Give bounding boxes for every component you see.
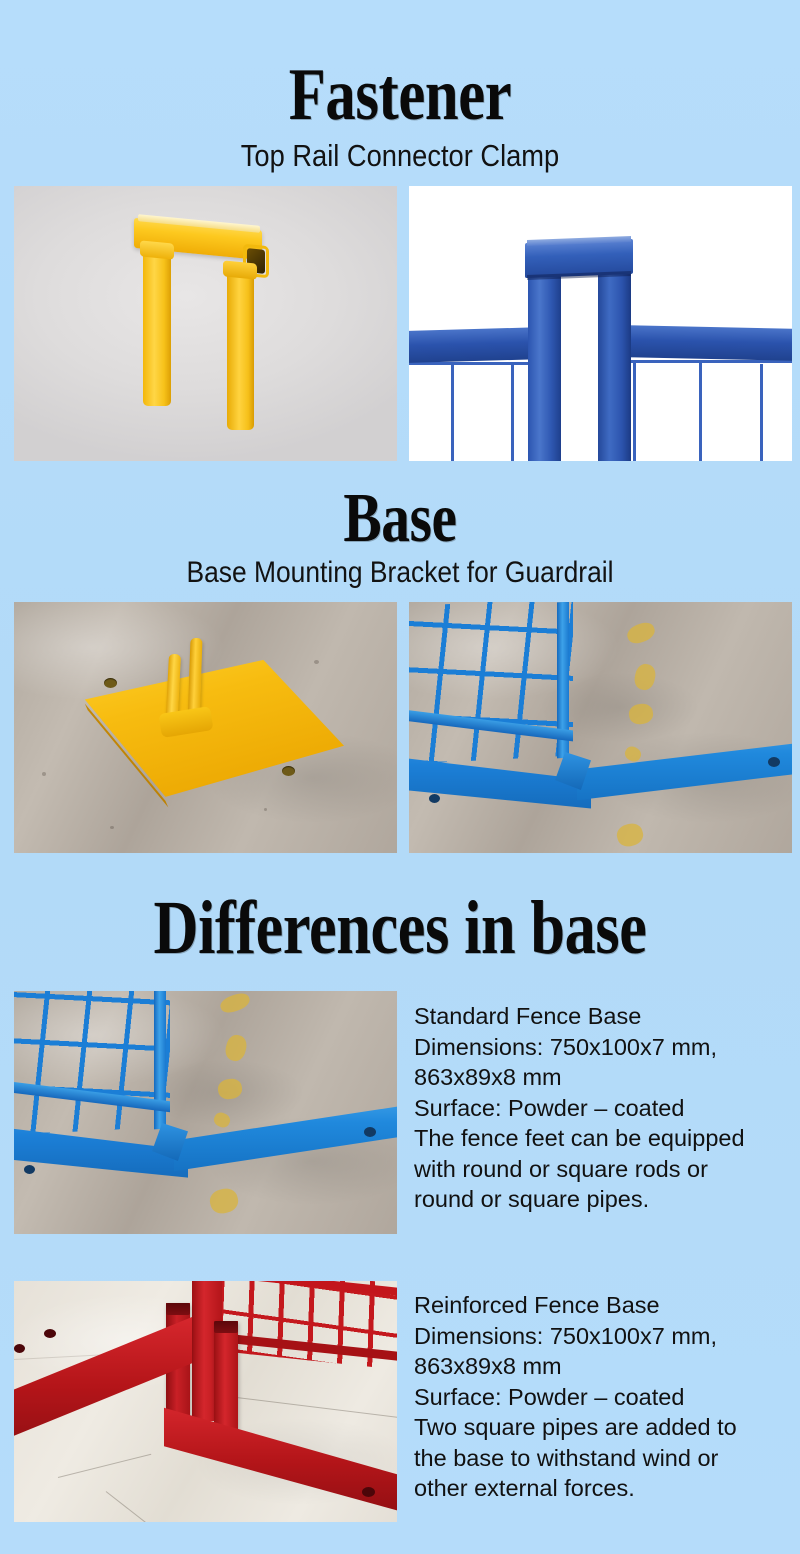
standard-fence-base-photo [14, 991, 397, 1234]
reinforced-fence-base-photo [14, 1281, 397, 1522]
section-title-differences: Differences in base [72, 890, 728, 966]
fence-mesh-wire [699, 362, 702, 461]
reinforcing-square-pipe-open-top [214, 1321, 238, 1333]
fence-right-post [598, 274, 631, 461]
base-plate-bolt-hole [429, 794, 440, 803]
fence-mesh-wire [633, 362, 636, 461]
fence-mesh-panel [409, 602, 573, 764]
base-plate-bolt-hole [364, 1127, 376, 1137]
base-plate-bolt-hole [24, 1165, 35, 1174]
fence-mesh-wire [511, 362, 514, 461]
fence-left-top-rail [409, 327, 545, 363]
section-title-base: Base [72, 484, 728, 554]
clamp-left-leg [143, 248, 171, 406]
base-plate-bolt-hole [768, 757, 780, 767]
base-plate-bolt-hole [362, 1487, 375, 1497]
fence-mesh-panel [14, 991, 170, 1135]
fence-left-post [528, 274, 561, 461]
base-plate-bolt-hole [282, 766, 295, 776]
base-plate-bolt-hole [44, 1329, 56, 1338]
blue-fence-base-on-concrete-photo [409, 602, 792, 853]
reinforcing-square-pipe-open-top [166, 1303, 190, 1315]
fence-mesh-wire [760, 364, 763, 461]
yellow-base-mounting-bracket-photo [14, 602, 397, 853]
section-subtitle-base: Base Mounting Bracket for Guardrail [48, 558, 752, 588]
section-subtitle-fastener: Top Rail Connector Clamp [48, 140, 752, 171]
section-title-fastener: Fastener [72, 58, 728, 132]
base-plate-bolt-hole [104, 678, 117, 688]
concrete-speck [314, 660, 319, 664]
fence-mesh-wire-horizontal [409, 362, 539, 365]
blue-fence-top-rail-clamp-photo [409, 186, 792, 461]
clamp-left-weld-fillet [140, 240, 174, 259]
base-plate-bolt-hole [14, 1344, 25, 1353]
yellow-top-rail-connector-clamp-photo [14, 186, 397, 461]
fence-right-top-rail [625, 325, 792, 361]
concrete-speck [110, 826, 114, 829]
fence-mesh-wire-horizontal [631, 360, 792, 363]
concrete-speck [42, 772, 46, 776]
clamp-right-leg [227, 268, 254, 430]
reinforcing-square-pipe [214, 1321, 238, 1437]
infographic-page: Fastener Top Rail Connector Clamp [0, 0, 800, 1554]
reinforced-fence-base-description: Reinforced Fence Base Dimensions: 750x10… [414, 1290, 800, 1504]
clamp-right-weld-fillet [223, 260, 257, 279]
concrete-speck [264, 808, 267, 811]
standard-fence-base-description: Standard Fence Base Dimensions: 750x100x… [414, 1001, 800, 1215]
fence-mesh-wire [451, 364, 454, 461]
